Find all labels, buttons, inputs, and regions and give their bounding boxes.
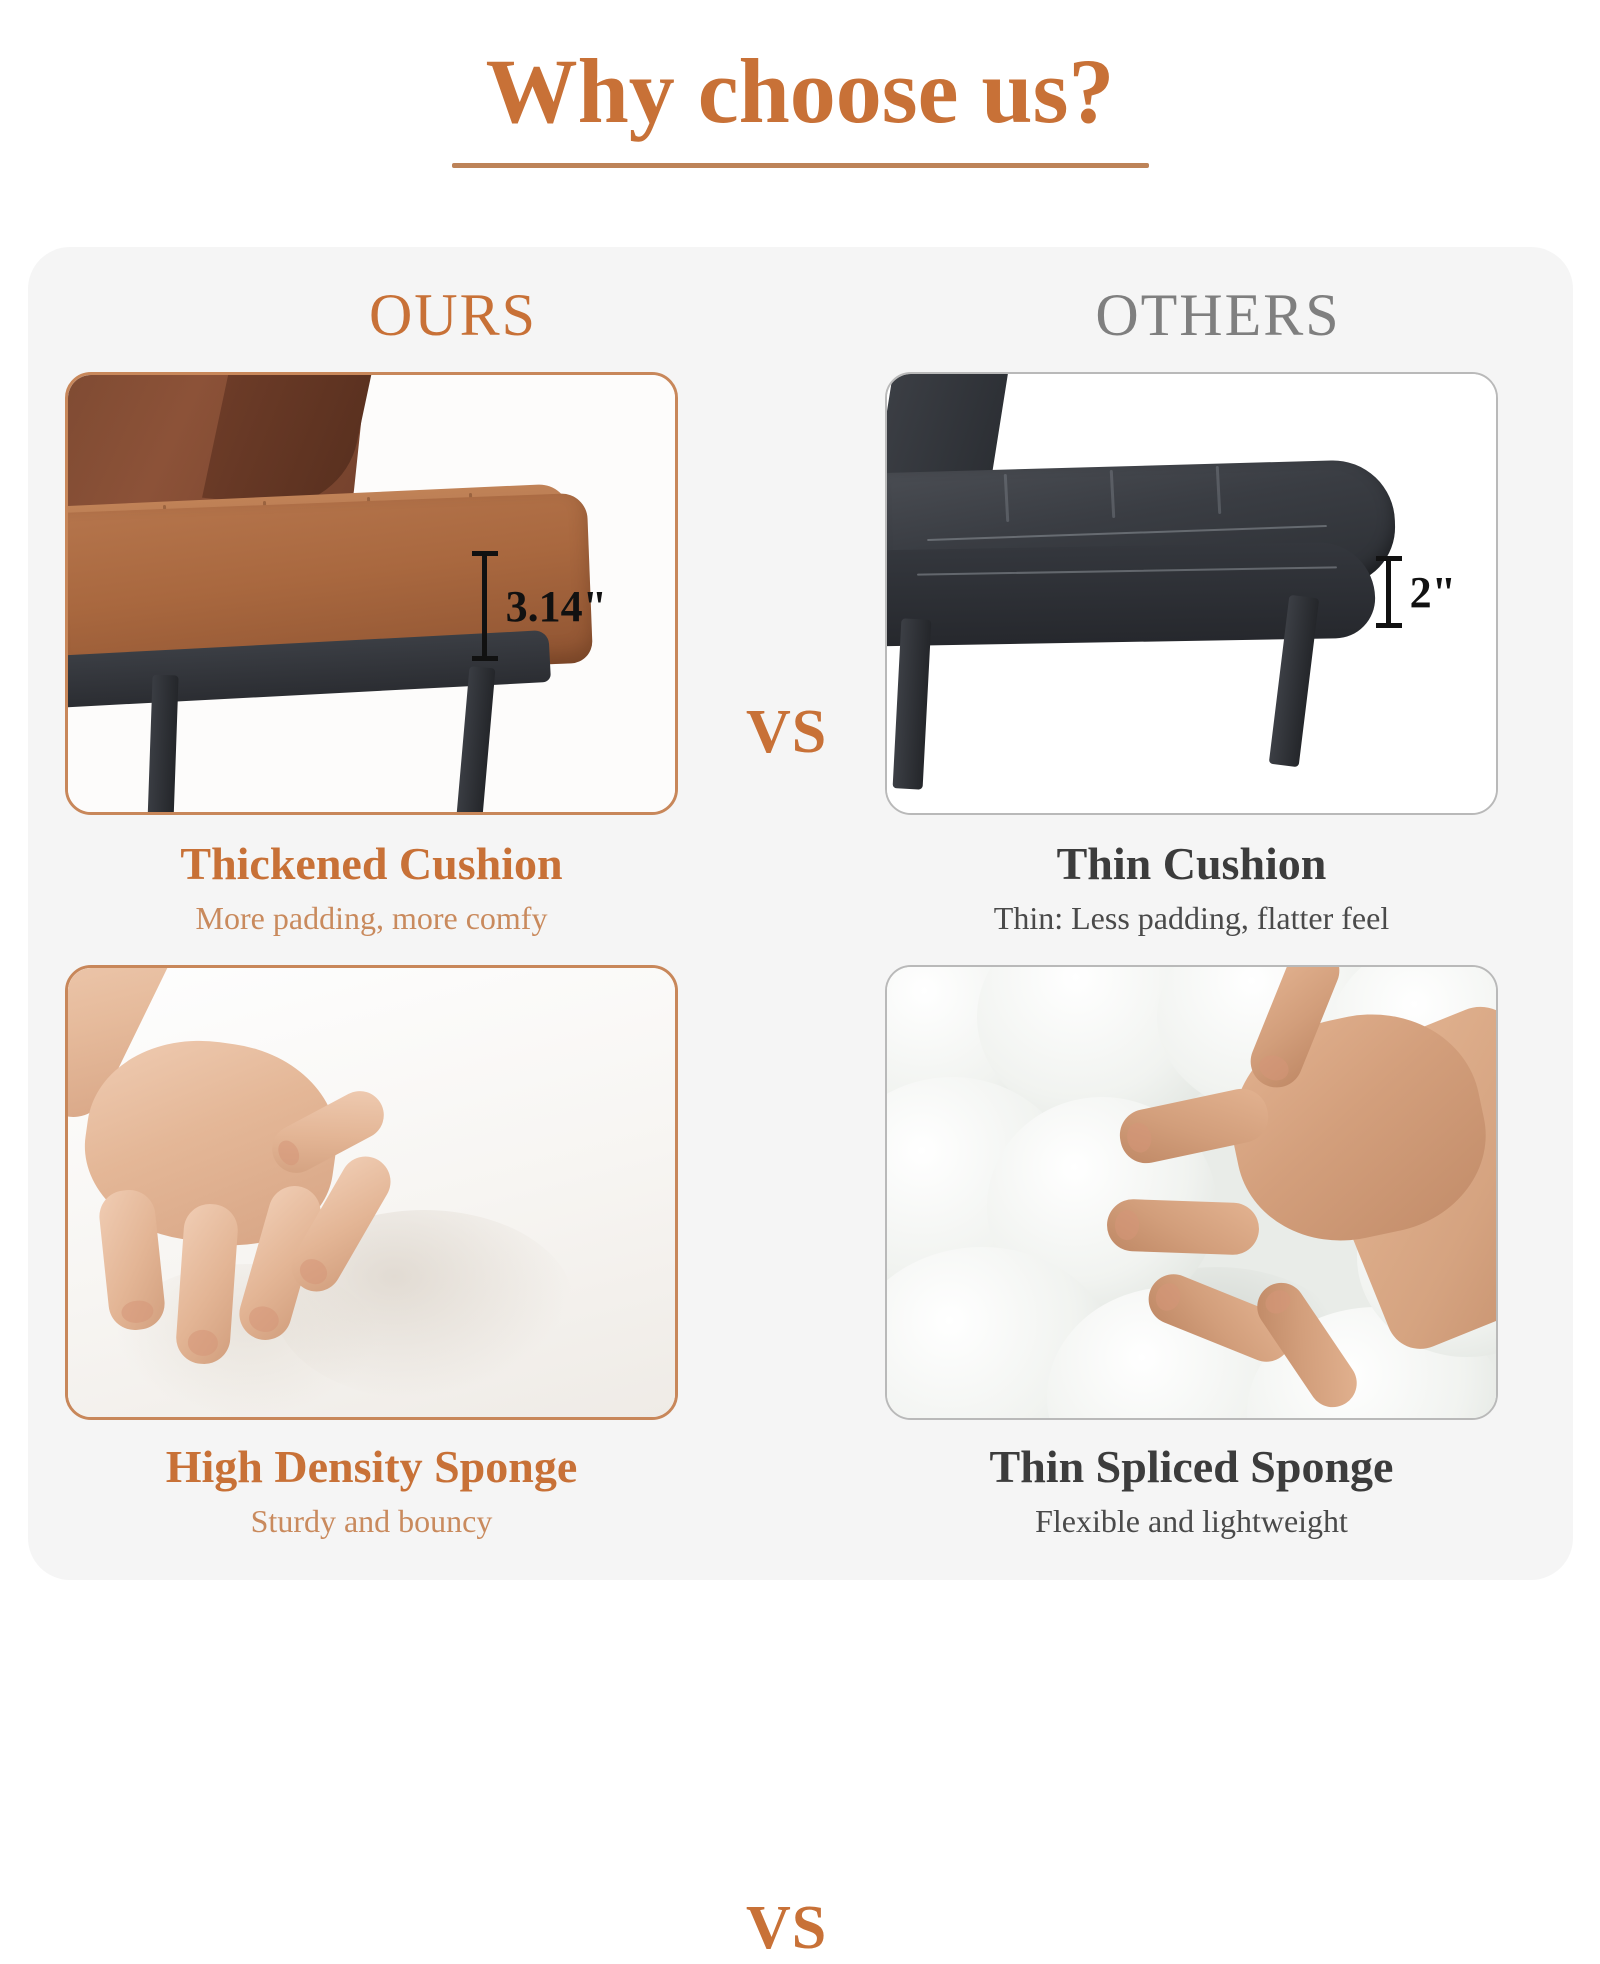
title-underline-rule	[452, 163, 1149, 168]
photo-frame-others-sponge	[885, 965, 1498, 1420]
caption-subtitle-others-cushion: Thin: Less padding, flatter feel	[885, 899, 1498, 937]
comparison-row-cushion: 3.14" Thickened Cushion More padding, mo…	[28, 372, 1573, 932]
dimension-line-icon	[472, 551, 494, 661]
dimension-annotation-ours-cushion: 3.14"	[472, 551, 607, 661]
photo-frame-ours-cushion: 3.14"	[65, 372, 678, 815]
column-headers: OURS OTHERS	[28, 281, 1573, 361]
cell-ours-cushion: 3.14" Thickened Cushion More padding, mo…	[65, 372, 678, 938]
page-title: Why choose us?	[486, 42, 1115, 141]
caption-title-others-sponge: Thin Spliced Sponge	[885, 1440, 1498, 1494]
dimension-line-icon	[1376, 556, 1398, 628]
dimension-annotation-others-cushion: 2"	[1376, 556, 1456, 628]
photo-frame-ours-sponge	[65, 965, 678, 1420]
vs-label-row-sponge: VS	[746, 1893, 827, 1964]
caption-others-sponge: Thin Spliced Sponge Flexible and lightwe…	[885, 1440, 1498, 1541]
vs-label-row-cushion: VS	[746, 697, 827, 768]
page-header: Why choose us?	[0, 0, 1600, 245]
caption-ours-cushion: Thickened Cushion More padding, more com…	[65, 837, 678, 938]
caption-title-ours-cushion: Thickened Cushion	[65, 837, 678, 891]
column-header-others: OTHERS	[1038, 281, 1398, 350]
caption-others-cushion: Thin Cushion Thin: Less padding, flatter…	[885, 837, 1498, 938]
caption-subtitle-others-sponge: Flexible and lightweight	[885, 1502, 1498, 1540]
hand-pressing-loose-fiber-fill-photo	[887, 967, 1496, 1418]
caption-ours-sponge: High Density Sponge Sturdy and bouncy	[65, 1440, 678, 1541]
caption-subtitle-ours-sponge: Sturdy and bouncy	[65, 1502, 678, 1540]
comparison-card: OURS OTHERS	[28, 247, 1573, 1580]
caption-title-ours-sponge: High Density Sponge	[65, 1440, 678, 1494]
caption-subtitle-ours-cushion: More padding, more comfy	[65, 899, 678, 937]
column-header-ours: OURS	[273, 281, 633, 350]
hand-pressing-high-density-foam-photo	[68, 968, 675, 1417]
dimension-value-ours-cushion: 3.14"	[506, 581, 607, 632]
photo-frame-others-cushion: 2"	[885, 372, 1498, 815]
comparison-row-sponge: High Density Sponge Sturdy and bouncy VS	[28, 965, 1573, 1565]
caption-title-others-cushion: Thin Cushion	[885, 837, 1498, 891]
cell-ours-sponge: High Density Sponge Sturdy and bouncy	[65, 965, 678, 1541]
cell-others-sponge: Thin Spliced Sponge Flexible and lightwe…	[885, 965, 1498, 1541]
dimension-value-others-cushion: 2"	[1410, 567, 1456, 618]
cell-others-cushion: 2" Thin Cushion Thin: Less padding, flat…	[885, 372, 1498, 938]
